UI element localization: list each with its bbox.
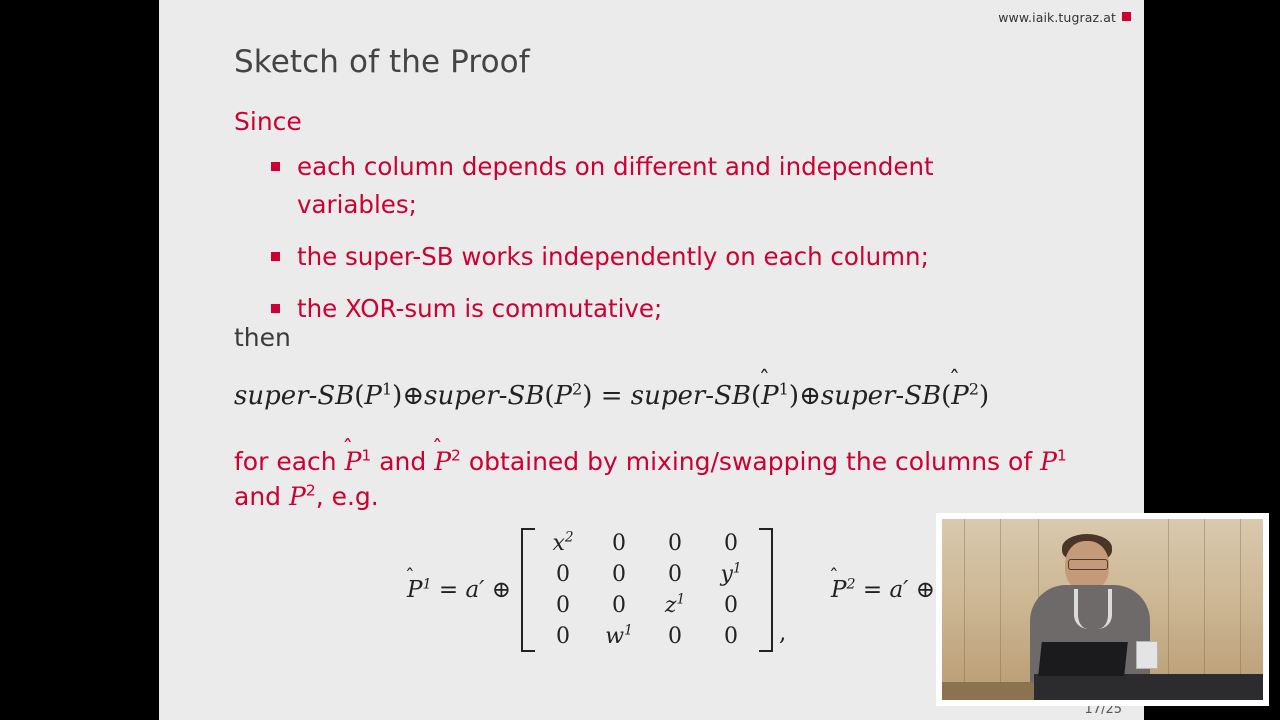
bullet-square-icon (271, 304, 280, 313)
speaker-glasses (1068, 559, 1108, 570)
matrix-cell: 0 (591, 590, 647, 621)
then-label: then (234, 323, 291, 352)
matrix-trailing-1: , (773, 620, 786, 652)
matrix-row: 00z10 (535, 590, 759, 621)
since-label: Since (234, 107, 302, 136)
page-title: Sketch of the Proof (234, 44, 530, 80)
bullet-square-icon (271, 162, 280, 171)
matrix-cell: 0 (591, 528, 647, 559)
speaker-badge (1136, 641, 1158, 669)
list-item-label: each column depends on different and ind… (297, 152, 934, 219)
brand-square-icon (1122, 12, 1131, 21)
matrix-grid-1: x2000000y100z100w100 (535, 528, 759, 652)
matrix-cell: 0 (703, 528, 759, 559)
main-equation: super-SB(P1)⊕super-SB(P2) = super-SB(̂P1… (234, 381, 989, 411)
matrix-row: x2000 (535, 528, 759, 559)
matrix-cell: 0 (535, 559, 591, 590)
matrix-cell: 0 (703, 621, 759, 652)
matrix-cell: 0 (647, 528, 703, 559)
for-each-sentence: for each ̂P1 and ̂P2 obtained by mixing/… (234, 444, 1074, 514)
matrix-cell: 0 (535, 621, 591, 652)
matrix-cell: 0 (591, 559, 647, 590)
bracket-right-icon (759, 528, 773, 652)
matrix-lhs-1: ̂P1 = a′ ⊕ (407, 577, 521, 603)
matrix-cell: 0 (703, 590, 759, 621)
matrix-cell: 0 (647, 559, 703, 590)
speaker-camera-feed (936, 513, 1269, 706)
matrix-cell: z1 (647, 590, 703, 621)
bullet-square-icon (271, 252, 280, 261)
list-item: the XOR-sum is commutative; (269, 290, 1059, 328)
matrix-p-hat-1: ̂P1 = a′ ⊕ x2000000y100z100w100 , (407, 528, 786, 652)
bullet-list: each column depends on different and ind… (269, 148, 1059, 342)
matrix-cell: y1 (703, 559, 759, 590)
list-item-label: the XOR-sum is commutative; (297, 294, 662, 323)
laptop-base (1034, 674, 1263, 700)
matrix-lhs-2: ̂P2 = a′ ⊕ (831, 577, 945, 603)
bracket-left-icon (521, 528, 535, 652)
list-item: the super-SB works independently on each… (269, 238, 1059, 276)
laptop-screen (1038, 642, 1128, 676)
presentation-recording: www.iaik.tugraz.at Sketch of the Proof S… (0, 0, 1280, 720)
matrix-cell: 0 (535, 590, 591, 621)
matrix-cell: 0 (647, 621, 703, 652)
list-item: each column depends on different and ind… (269, 148, 1059, 224)
matrix-cell: w1 (591, 621, 647, 652)
matrix-row: 0w100 (535, 621, 759, 652)
institution-url: www.iaik.tugraz.at (998, 10, 1116, 25)
matrix-row: 000y1 (535, 559, 759, 590)
matrix-cell: x2 (535, 528, 591, 559)
speaker-lanyard (1074, 589, 1112, 629)
list-item-label: the super-SB works independently on each… (297, 242, 929, 271)
